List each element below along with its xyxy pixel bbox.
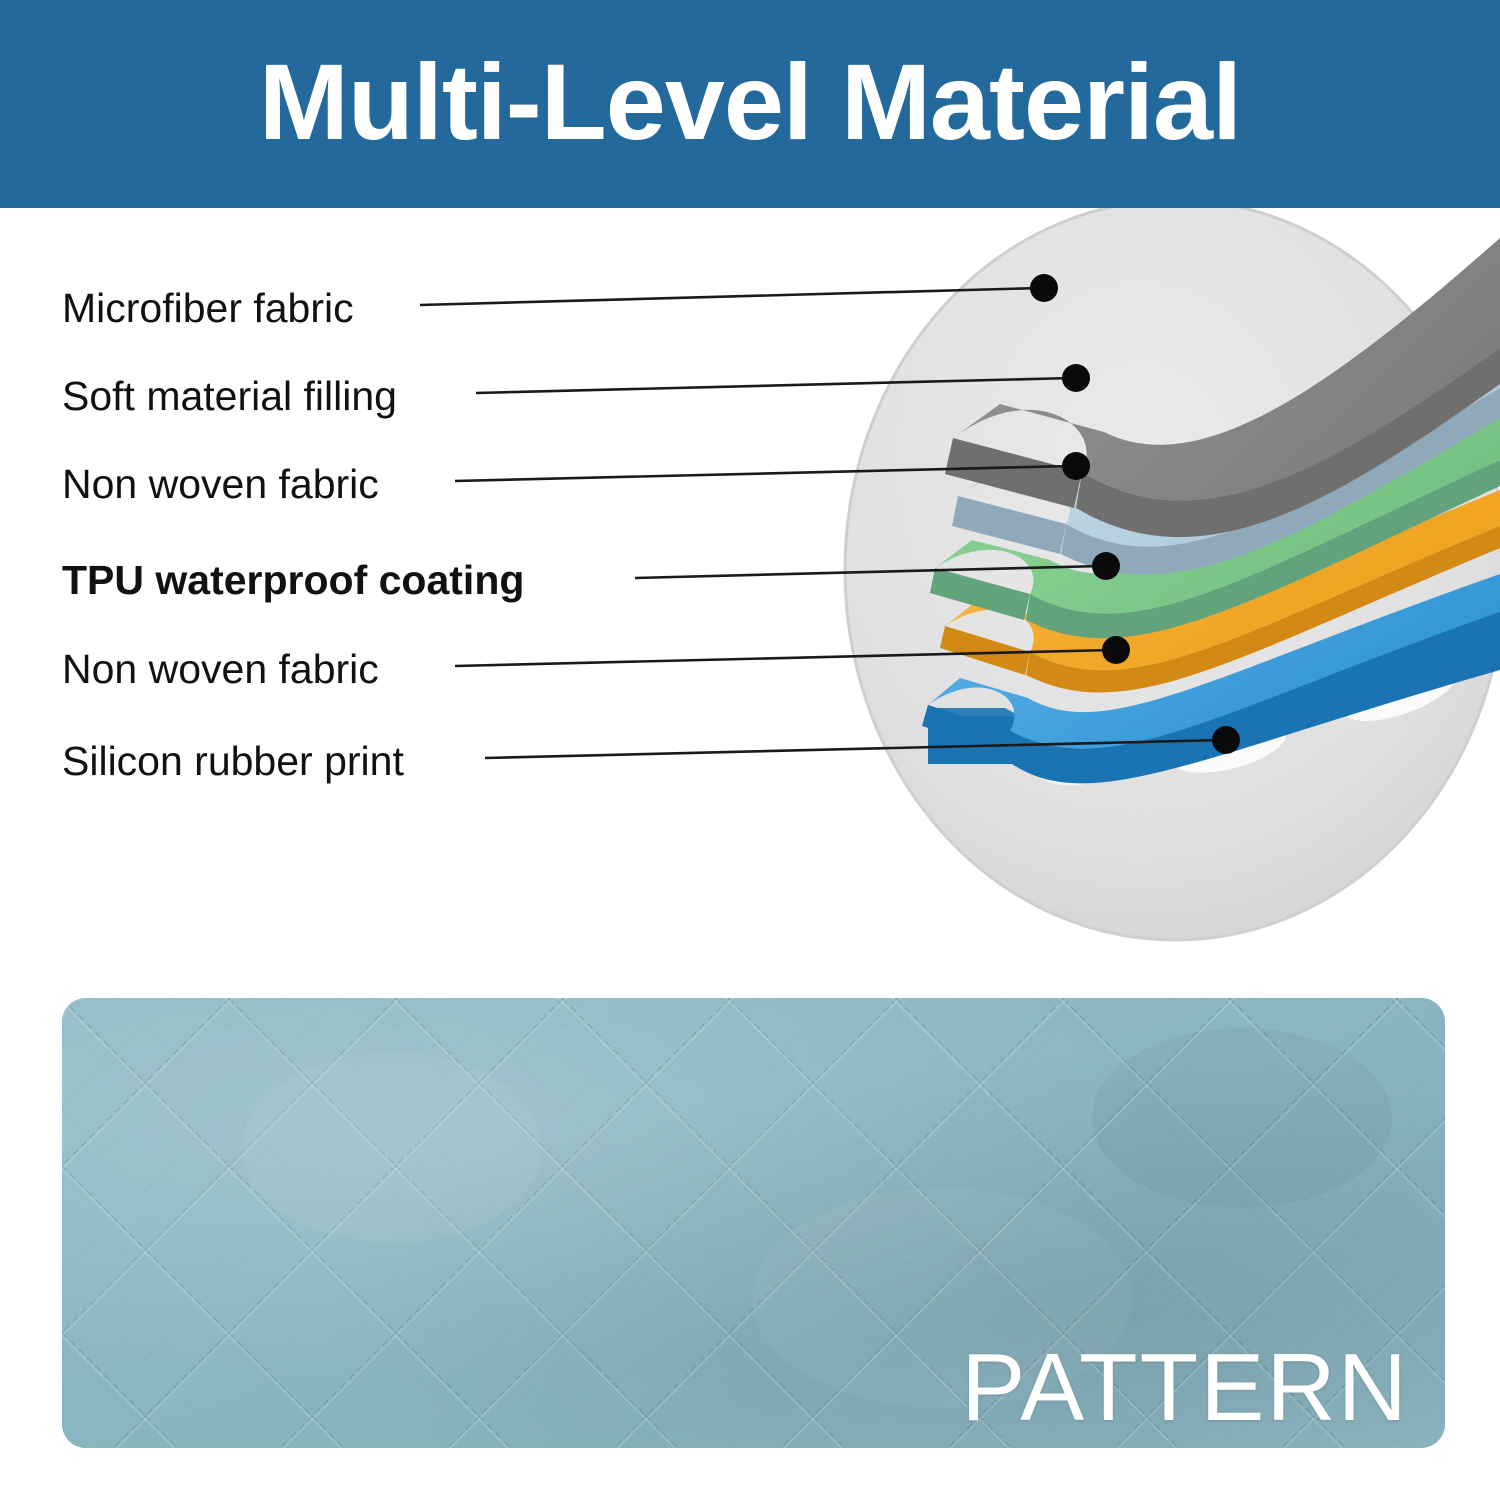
infographic-root: Multi-Level Material (0, 0, 1500, 1500)
label-microfiber-fabric: Microfiber fabric (62, 288, 354, 329)
label-silicon-rubber-print: Silicon rubber print (62, 741, 404, 782)
header-banner: Multi-Level Material (0, 0, 1500, 208)
label-non-woven-fabric-bottom: Non woven fabric (62, 649, 379, 690)
leader-dot-non-woven-fabric-top (1062, 452, 1090, 480)
page-title: Multi-Level Material (259, 48, 1241, 156)
leader-dot-non-woven-fabric-bottom (1102, 636, 1130, 664)
fabric-pattern-swatch: PATTERN (62, 998, 1445, 1448)
leader-dot-soft-material-filling (1062, 364, 1090, 392)
label-non-woven-fabric-top: Non woven fabric (62, 464, 379, 505)
leader-dot-microfiber-fabric (1030, 274, 1058, 302)
material-layers-diagram: Microfiber fabric Soft material filling … (0, 208, 1500, 980)
pattern-caption: PATTERN (961, 1340, 1409, 1436)
leader-dot-silicon-rubber-print (1212, 726, 1240, 754)
leader-dot-tpu-waterproof-coating (1092, 552, 1120, 580)
label-soft-material-filling: Soft material filling (62, 376, 397, 417)
label-tpu-waterproof-coating: TPU waterproof coating (62, 560, 524, 601)
